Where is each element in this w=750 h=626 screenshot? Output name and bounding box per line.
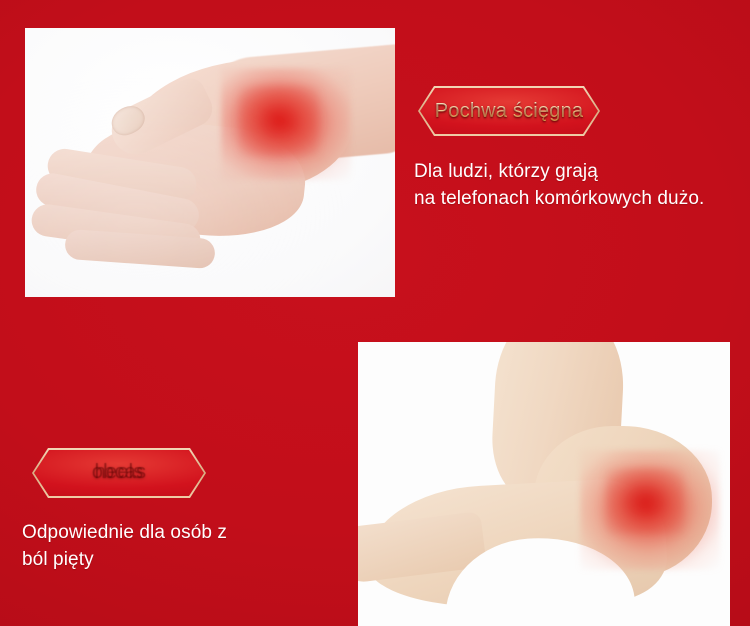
badge-heel[interactable]: obcas heels	[34, 450, 204, 496]
badge-tendon-sheath[interactable]: Pochwa ścięgna	[420, 88, 598, 134]
caption-tendon-line-2: na telefonach komórkowych dużo.	[414, 185, 744, 212]
caption-tendon-sheath: Dla ludzi, którzy grają na telefonach ko…	[414, 158, 744, 212]
promo-banner: Pochwa ścięgna Dla ludzi, którzy grają n…	[0, 0, 750, 626]
caption-heel-line-2: ból pięty	[22, 546, 322, 573]
badge-heel-label-stack: obcas heels	[92, 460, 146, 486]
photo-soft-light	[25, 28, 395, 297]
caption-heel: Odpowiednie dla osób z ból pięty	[22, 519, 322, 573]
badge-tendon-label: Pochwa ścięgna	[435, 100, 583, 123]
caption-heel-line-1: Odpowiednie dla osób z	[22, 519, 322, 546]
caption-tendon-line-1: Dla ludzi, którzy grają	[414, 158, 744, 185]
foot-heel-pain-photo	[358, 342, 730, 626]
heel-inflammation-core	[606, 468, 684, 534]
badge-heel-label-overlay: heels	[95, 460, 144, 483]
hand-wrist-pain-photo	[25, 28, 395, 297]
